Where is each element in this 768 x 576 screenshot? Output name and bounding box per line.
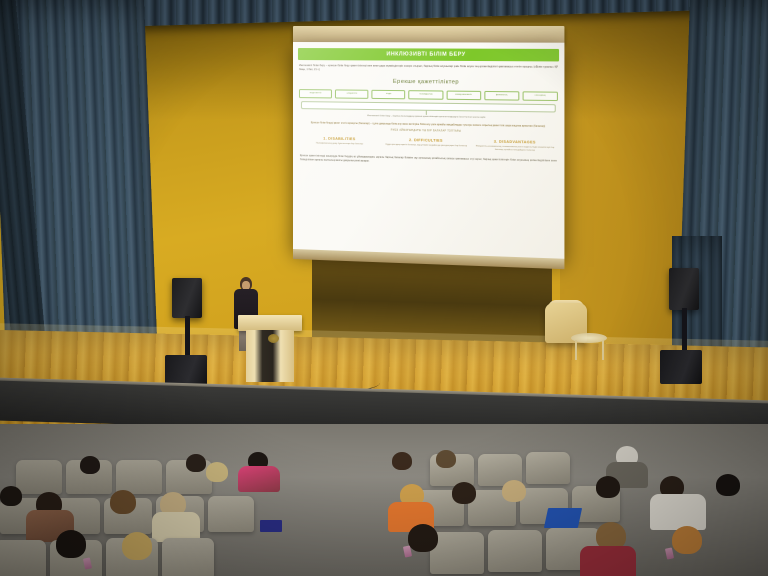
attendee-head xyxy=(408,524,438,552)
column-heading: 1. DISABILITIES xyxy=(299,136,380,142)
attendee-torso xyxy=(650,494,706,530)
table-leg xyxy=(602,340,604,360)
attendee-head xyxy=(56,530,86,558)
attendee-head xyxy=(110,490,136,514)
need-chip: коммуникативтік xyxy=(446,90,481,99)
podium-body xyxy=(246,330,294,382)
slide-section-caption: РИСК АЙМАҒЫНДАҒЫ ҮШ БІР БАЛАЛАР ТОПТАРЫ xyxy=(293,128,564,135)
attendee-head xyxy=(392,452,412,470)
attendee-head xyxy=(0,486,22,506)
attendee-head xyxy=(436,450,456,468)
attendee-torso xyxy=(580,546,636,576)
attendee-head xyxy=(186,454,206,472)
pa-speaker-left-stand xyxy=(185,316,190,360)
auditorium-seat xyxy=(0,540,46,576)
slide-three-columns: 1. DISABILITIES Психофизикалық даму бұзы… xyxy=(299,136,558,153)
slide-bar-caption: Инклюзивті білім беру – барлық балаларды… xyxy=(303,114,554,120)
slide-column: 3. DISADVANTAGES Әлеуметтік-экономикалық… xyxy=(472,140,558,154)
attendee-notebook xyxy=(544,508,582,528)
auditorium-seat xyxy=(430,532,484,574)
auditorium-seat xyxy=(526,452,570,484)
projection-screen: ИНКЛЮЗИВТІ БІЛІМ БЕРУ Инклюзивті білім б… xyxy=(293,42,564,260)
need-chip: әлеуметтік xyxy=(335,89,369,98)
slide-paragraph-two: Ерекше білім беруді қажет ететін арнаулы… xyxy=(300,121,557,129)
attendee-torso xyxy=(238,466,280,492)
column-heading: 3. DISADVANTAGES xyxy=(472,140,558,146)
need-chip: танымдылық xyxy=(409,90,443,99)
pa-speaker-right-stand xyxy=(682,308,687,354)
attendee-notebook xyxy=(260,520,282,532)
screen-pelmet xyxy=(293,26,564,44)
slide-column: 1. DISABILITIES Психофизикалық даму бұзы… xyxy=(299,136,380,149)
slide-title: ИНКЛЮЗИВТІ БІЛІМ БЕРУ xyxy=(298,48,559,61)
attendee-head xyxy=(596,476,620,498)
column-heading: 2. DIFFICULTIES xyxy=(384,138,468,144)
auditorium-seat xyxy=(116,460,162,494)
pa-subwoofer-right xyxy=(660,350,702,384)
pa-speaker-right xyxy=(669,268,699,310)
auditorium-photo: ИНКЛЮЗИВТІ БІЛІМ БЕРУ Инклюзивті білім б… xyxy=(0,0,768,576)
column-body: Психофизикалық даму бұзылыстары бар бала… xyxy=(299,142,380,147)
table-leg xyxy=(575,340,577,360)
auditorium-seat xyxy=(488,530,542,572)
auditorium-seat xyxy=(162,538,214,576)
screen-surface: ИНКЛЮЗИВТІ БІЛІМ БЕРУ Инклюзивті білім б… xyxy=(293,42,564,260)
podium-top xyxy=(238,315,302,331)
attendee-head xyxy=(206,462,228,482)
needs-chip-row: мәдениеттік әлеуметтік тілдік танымдылық… xyxy=(299,89,558,101)
slide-intro-text: Инклюзивті білім беру – ерекше білім бер… xyxy=(299,64,558,74)
slide-subtitle: Ерекше қажеттіліктер xyxy=(293,78,564,87)
pa-speaker-left xyxy=(172,278,202,318)
auditorium-seat xyxy=(16,460,62,494)
attendee-head xyxy=(122,532,152,560)
need-chip: физикалық xyxy=(484,91,519,100)
attendee-head xyxy=(672,526,702,554)
attendee-head xyxy=(502,480,526,502)
need-chip: мәдениеттік xyxy=(299,89,332,98)
presentation-slide: ИНКЛЮЗИВТІ БІЛІМ БЕРУ Инклюзивті білім б… xyxy=(293,42,564,260)
auditorium-seat xyxy=(208,496,254,532)
slide-column: 2. DIFFICULTIES Оқуда қиындық көретін ба… xyxy=(384,138,468,151)
attendee-head xyxy=(716,474,740,496)
podium-emblem xyxy=(268,334,279,343)
need-chip: тілдік xyxy=(372,90,406,99)
slide-connector-bar xyxy=(301,101,556,112)
column-body: Оқуда қиындық көретін балалар, оқу-үлгер… xyxy=(384,144,468,149)
slide-footer-text: Ерекше қажеттіліктерді анықтауда білім б… xyxy=(300,155,557,168)
column-body: Әлеуметтік-экономикалық, психологиялық ж… xyxy=(472,145,558,153)
slide-connector-tick xyxy=(426,110,427,114)
attendee-head xyxy=(452,482,476,504)
need-chip: сенсорлық xyxy=(522,91,558,101)
attendee-head xyxy=(80,456,100,474)
auditorium-house xyxy=(0,424,768,576)
speaker-podium xyxy=(242,315,298,381)
